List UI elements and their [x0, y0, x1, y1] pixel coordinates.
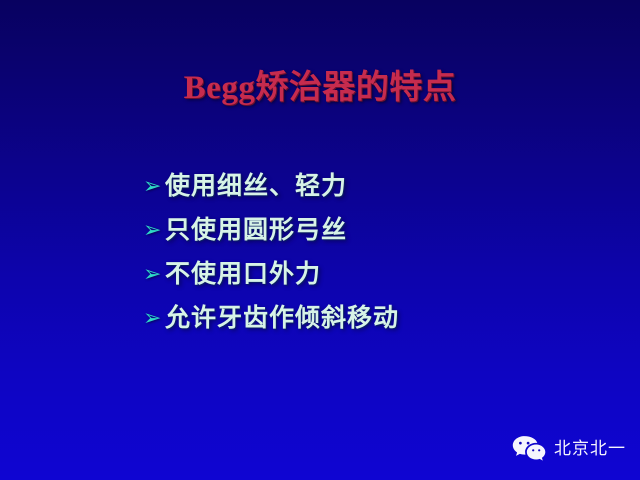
bullet-item-label: 使用细丝、轻力 [165, 170, 347, 202]
bullet-list: ➢ 使用细丝、轻力 ➢ 只使用圆形弓丝 ➢ 不使用口外力 ➢ 允许牙齿作倾斜移动 [143, 170, 583, 346]
watermark-label: 北京北一 [554, 439, 626, 459]
bullet-item-2: ➢ 只使用圆形弓丝 [143, 214, 583, 258]
bullet-item-1: ➢ 使用细丝、轻力 [143, 170, 583, 214]
bullet-item-label: 允许牙齿作倾斜移动 [165, 302, 399, 334]
arrow-bullet-icon: ➢ [143, 171, 165, 201]
presentation-slide: Begg矫治器的特点 ➢ 使用细丝、轻力 ➢ 只使用圆形弓丝 ➢ 不使用口外力 … [0, 0, 640, 480]
arrow-bullet-icon: ➢ [143, 303, 165, 333]
bullet-item-3: ➢ 不使用口外力 [143, 258, 583, 302]
bullet-item-label: 不使用口外力 [165, 258, 321, 290]
arrow-bullet-icon: ➢ [143, 259, 165, 289]
watermark: 北京北一 [512, 435, 626, 462]
bullet-item-label: 只使用圆形弓丝 [165, 214, 347, 246]
title-block: Begg矫治器的特点 [0, 68, 640, 108]
wechat-icon [512, 435, 546, 462]
arrow-bullet-icon: ➢ [143, 215, 165, 245]
slide-title: Begg矫治器的特点 [184, 68, 457, 108]
bullet-item-4: ➢ 允许牙齿作倾斜移动 [143, 302, 583, 346]
